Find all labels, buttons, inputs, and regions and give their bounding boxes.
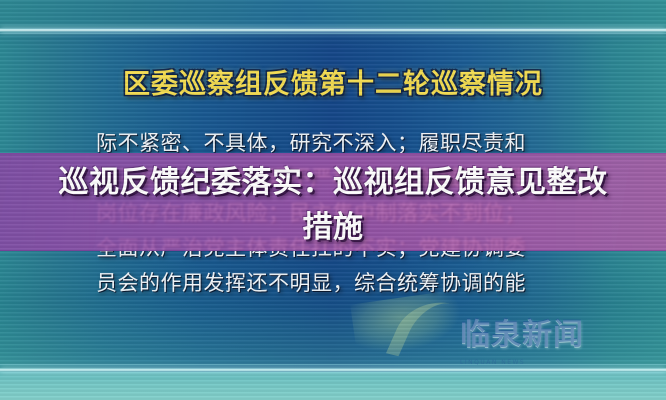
slide-title: 区委巡察组反馈第十二轮巡察情况	[0, 68, 666, 102]
station-watermark: 临泉新闻 LINQUAN NEWS	[460, 318, 596, 360]
slide-body-line: 员会的作用发挥还不明显，综合统筹协调的能	[96, 266, 574, 301]
caption-headline: 巡视反馈纪委落实：巡视组反馈意见整改措施	[0, 160, 666, 250]
broadcast-screenshot: 区委巡察组反馈第十二轮巡察情况 际不紧密、不具体，研究不深入；履职尽责和 管不到…	[0, 0, 666, 400]
top-band	[0, 0, 666, 28]
